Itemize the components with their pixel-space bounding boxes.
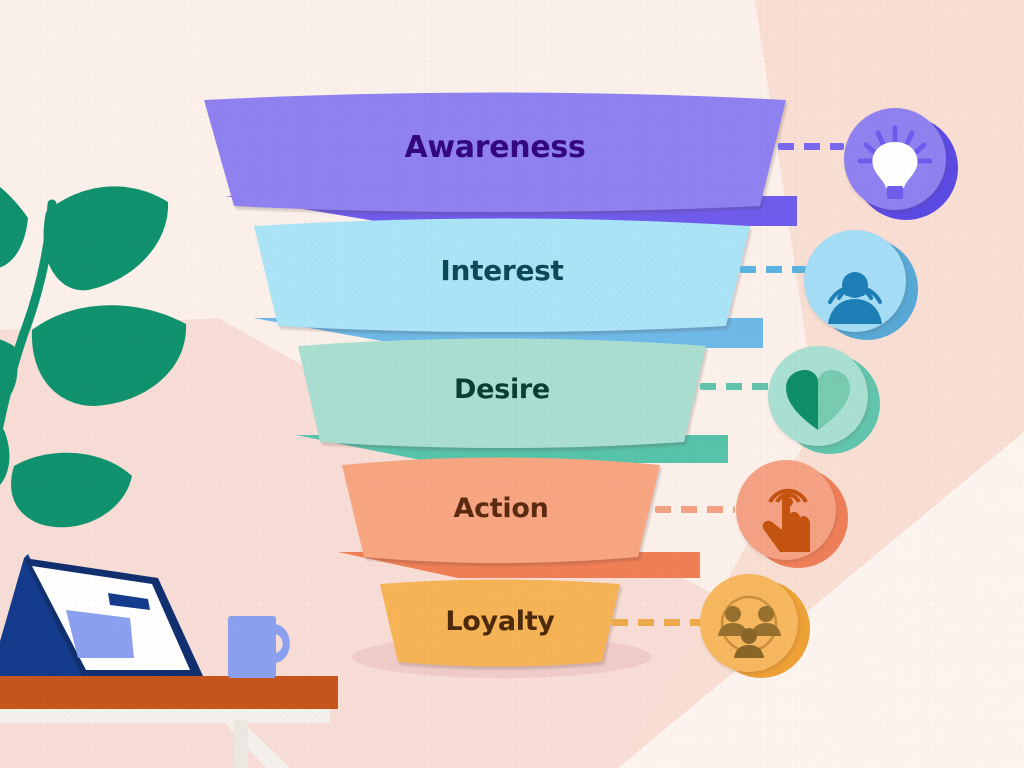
badge-loyalty[interactable] [696,572,816,684]
heart-right-half [818,370,850,430]
badge-interest[interactable] [800,228,922,344]
funnel-stage-action[interactable]: Action [336,455,666,567]
people-group-icon [696,572,816,684]
lightbulb-glass [872,142,917,188]
funnel-stage-interest[interactable]: Interest [248,216,756,336]
badge-awareness[interactable] [840,106,960,222]
lightbulb-icon [840,106,960,222]
connector-awareness [778,143,844,150]
funnel-diagram: Awareness Interest Desire [0,0,1024,768]
loyalty-label: Loyalty [374,606,626,637]
connector-action [655,506,735,513]
connector-desire [700,383,770,390]
heart-left-half [786,370,818,430]
desire-label: Desire [292,374,712,405]
funnel-stage-loyalty[interactable]: Loyalty [374,578,626,670]
heart-icon [762,344,886,460]
broadcast-person-icon [800,228,922,344]
infographic-canvas: Awareness Interest Desire [0,0,1024,768]
funnel-stage-desire[interactable]: Desire [292,336,712,452]
badge-desire[interactable] [762,344,886,460]
person-silhouette [828,272,882,324]
hand-silhouette [763,494,810,553]
funnel-stage-awareness[interactable]: Awareness [200,92,790,216]
awareness-label: Awareness [200,130,790,165]
connector-loyalty [612,619,702,626]
lightbulb-base [887,186,903,199]
interest-label: Interest [248,254,756,287]
badge-action[interactable] [730,458,854,574]
action-label: Action [336,493,666,524]
tap-hand-icon [730,458,854,574]
